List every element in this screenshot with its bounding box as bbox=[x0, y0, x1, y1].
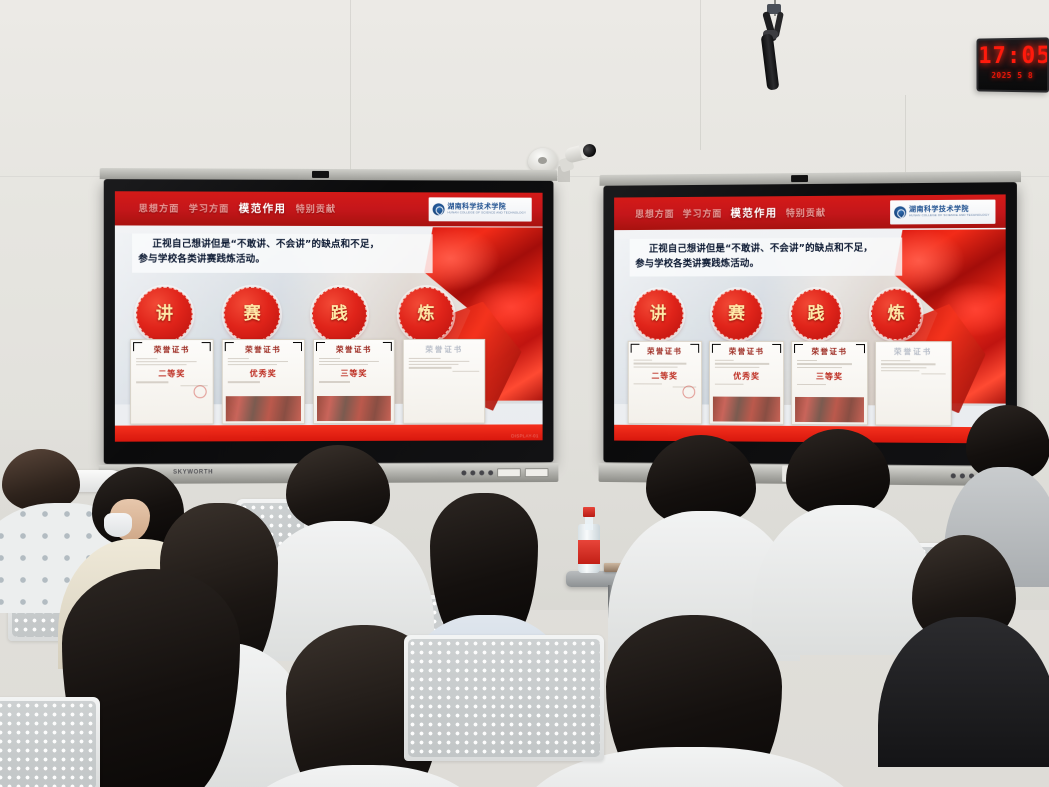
seal-circle: 炼 bbox=[871, 289, 922, 340]
certificate-card: 荣誉证书 三等奖 bbox=[313, 339, 396, 424]
certificate-gallery: 荣誉证书 二等奖 荣誉证书 优秀奖 bbox=[130, 339, 485, 424]
certificate-card: 荣誉证书 优秀奖 bbox=[709, 341, 784, 425]
seal-char: 炼 bbox=[888, 306, 905, 323]
seal-circle: 赛 bbox=[712, 290, 762, 341]
clock-date: 2025 5 8 bbox=[978, 70, 1047, 81]
slide-headline: 正视自己想讲但是“不敢讲、不会讲”的缺点和不足， 参与学校各类讲赛践炼活动。 bbox=[629, 237, 902, 276]
seal-char: 践 bbox=[808, 306, 825, 323]
university-name-en: HUNAN COLLEGE OF SCIENCE AND TECHNOLOGY bbox=[447, 212, 526, 215]
display-right[interactable]: 思想方面 学习方面 模范作用 特别贡献 湖南科学技术学院 HUNAN COLLE… bbox=[603, 182, 1016, 466]
seal-char: 讲 bbox=[650, 307, 667, 324]
slide-nav-items: 思想方面 学习方面 模范作用 特别贡献 bbox=[614, 204, 890, 221]
certificate-award: 优秀奖 bbox=[715, 370, 778, 381]
university-logo-icon bbox=[432, 203, 444, 215]
seal-char: 讲 bbox=[156, 306, 173, 323]
monitor-bezel: 思想方面 学习方面 模范作用 特别贡献 湖南科学技术学院 HUNAN COLLE… bbox=[104, 179, 554, 464]
certificate-award: 二等奖 bbox=[136, 369, 208, 380]
certificate-card: 荣誉证书 二等奖 bbox=[130, 339, 214, 424]
headline-line-2: 参与学校各类讲赛践炼活动。 bbox=[635, 256, 896, 272]
seal-circle: 讲 bbox=[137, 286, 193, 342]
slide-nav-items: 思想方面 学习方面 模范作用 特别贡献 bbox=[115, 201, 429, 217]
face-mask bbox=[104, 513, 132, 537]
certificate-title: 荣誉证书 bbox=[228, 344, 299, 355]
certificate-card: 荣誉证书 三等奖 bbox=[792, 341, 868, 425]
display-left[interactable]: 思想方面 学习方面 模范作用 特别贡献 湖南科学技术学院 HUNAN COLLE… bbox=[104, 179, 554, 464]
nav-item-thought[interactable]: 思想方面 bbox=[139, 202, 180, 215]
certificate-title: 荣誉证书 bbox=[715, 346, 778, 357]
certificate-award: 二等奖 bbox=[633, 370, 696, 381]
seal-char: 赛 bbox=[728, 306, 745, 323]
seal-circle-group: 讲 赛 践 炼 bbox=[633, 289, 922, 340]
presentation-slide: 思想方面 学习方面 模范作用 特别贡献 湖南科学技术学院 HUNAN COLLE… bbox=[115, 191, 543, 441]
certificate-award: 三等奖 bbox=[319, 368, 390, 379]
university-name-en: HUNAN COLLEGE OF SCIENCE AND TECHNOLOGY bbox=[909, 214, 990, 218]
person-head bbox=[2, 449, 80, 511]
seated-student-audience bbox=[0, 447, 1049, 787]
monitor-camera-icon bbox=[312, 171, 329, 178]
slide-footer-strip bbox=[115, 424, 543, 441]
microphone-icon bbox=[756, 0, 796, 96]
screen-left[interactable]: 思想方面 学习方面 模范作用 特别贡献 湖南科学技术学院 HUNAN COLLE… bbox=[115, 191, 543, 441]
certificate-card: 荣誉证书 bbox=[875, 341, 952, 425]
screen-right[interactable]: 思想方面 学习方面 模范作用 特别贡献 湖南科学技术学院 HUNAN COLLE… bbox=[614, 194, 1006, 443]
seal-char: 践 bbox=[331, 306, 348, 323]
nav-item-role-model[interactable]: 模范作用 bbox=[731, 205, 778, 220]
chair[interactable] bbox=[404, 635, 604, 761]
headline-line-1: 正视自己想讲但是“不敢讲、不会讲”的缺点和不足， bbox=[635, 241, 896, 257]
certificate-title: 荣誉证书 bbox=[881, 346, 946, 357]
certificate-title: 荣誉证书 bbox=[136, 344, 208, 355]
slide-nav-bar: 思想方面 学习方面 模范作用 特别贡献 湖南科学技术学院 HUNAN COLLE… bbox=[614, 194, 1006, 230]
seal-circle-group: 讲 赛 践 炼 bbox=[137, 286, 454, 342]
certificate-title: 荣誉证书 bbox=[409, 344, 479, 355]
person-head bbox=[286, 445, 390, 531]
seal-circle: 践 bbox=[312, 287, 367, 342]
certificate-award: 优秀奖 bbox=[228, 369, 299, 380]
nav-item-role-model[interactable]: 模范作用 bbox=[239, 201, 287, 216]
university-logo: 湖南科学技术学院 HUNAN COLLEGE OF SCIENCE AND TE… bbox=[890, 199, 996, 224]
clock-time: 17:05 bbox=[978, 41, 1047, 70]
wall-panel-seam bbox=[350, 0, 351, 180]
headline-line-2: 参与学校各类讲赛践炼活动。 bbox=[138, 253, 426, 268]
certificate-card: 荣誉证书 优秀奖 bbox=[221, 339, 304, 424]
seal-circle: 践 bbox=[791, 289, 842, 340]
slide-nav-bar: 思想方面 学习方面 模范作用 特别贡献 湖南科学技术学院 HUNAN COLLE… bbox=[115, 191, 543, 226]
monitor-bezel: 思想方面 学习方面 模范作用 特别贡献 湖南科学技术学院 HUNAN COLLE… bbox=[603, 182, 1016, 466]
certificate-title: 荣誉证书 bbox=[633, 346, 696, 357]
screen-watermark: DISPLAY-01 bbox=[511, 433, 538, 438]
certificate-card: 荣誉证书 二等奖 bbox=[627, 341, 702, 424]
university-logo-icon bbox=[894, 206, 906, 218]
seal-circle: 讲 bbox=[633, 290, 683, 340]
certificate-title: 荣誉证书 bbox=[319, 344, 390, 355]
university-logo: 湖南科学技术学院 HUNAN COLLEGE OF SCIENCE AND TE… bbox=[428, 197, 532, 221]
monitor-camera-icon bbox=[791, 175, 808, 182]
certificate-gallery: 荣誉证书 二等奖 荣誉证书 优秀奖 bbox=[627, 341, 951, 426]
water-bottle[interactable] bbox=[578, 507, 600, 573]
nav-item-contribution[interactable]: 特别贡献 bbox=[296, 202, 336, 215]
chair[interactable] bbox=[0, 697, 100, 787]
certificate-award: 三等奖 bbox=[797, 371, 861, 382]
led-wall-clock: 17:05 2025 5 8 bbox=[977, 37, 1049, 92]
nav-item-thought[interactable]: 思想方面 bbox=[635, 207, 674, 220]
nav-item-contribution[interactable]: 特别贡献 bbox=[786, 206, 826, 219]
headline-line-1: 正视自己想讲但是“不敢讲、不会讲”的缺点和不足， bbox=[138, 238, 426, 253]
security-camera-icon bbox=[552, 140, 598, 182]
seal-char: 赛 bbox=[244, 306, 261, 323]
nav-item-study[interactable]: 学习方面 bbox=[189, 202, 230, 215]
presentation-slide: 思想方面 学习方面 模范作用 特别贡献 湖南科学技术学院 HUNAN COLLE… bbox=[614, 194, 1006, 443]
seal-char: 炼 bbox=[418, 306, 435, 323]
certificate-card: 荣誉证书 bbox=[403, 339, 485, 424]
nav-item-study[interactable]: 学习方面 bbox=[683, 207, 723, 220]
person-shoulders bbox=[752, 505, 940, 655]
slide-headline: 正视自己想讲但是“不敢讲、不会讲”的缺点和不足， 参与学校各类讲赛践炼活动。 bbox=[132, 234, 432, 273]
wall-panel-seam bbox=[700, 0, 701, 150]
seal-circle: 赛 bbox=[224, 287, 280, 343]
seal-circle: 炼 bbox=[398, 287, 453, 342]
certificate-title: 荣誉证书 bbox=[797, 346, 861, 357]
